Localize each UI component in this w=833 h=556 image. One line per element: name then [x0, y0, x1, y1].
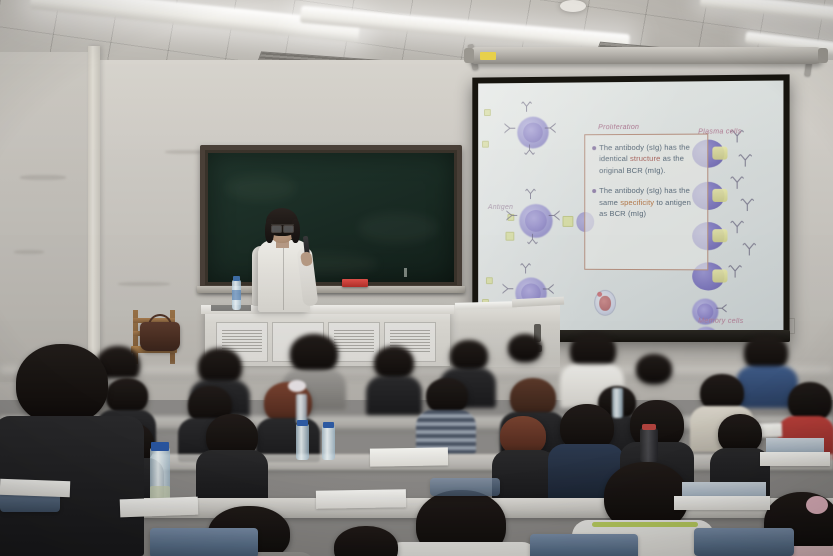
student-head: [106, 378, 148, 414]
bullet-point-icon: [592, 146, 596, 150]
smoke-detector-icon: [560, 0, 586, 12]
bottle-cap: [297, 420, 308, 426]
wall-scuff: [118, 282, 170, 286]
antibody-icon: [743, 242, 756, 255]
hair-accessory: [288, 380, 306, 392]
projected-slide: Proliferation Antigen Plasma cells Memor…: [478, 80, 783, 335]
bcr-receptor-icon: [527, 234, 538, 245]
thermos-cap: [642, 424, 656, 430]
slide-textbox: The antibody (sIg) has the identical str…: [584, 134, 708, 271]
student-head: [426, 378, 468, 414]
chalk-smudge: [358, 213, 438, 243]
b-cell: [519, 204, 552, 238]
student-head: [290, 334, 338, 374]
student-torso: [366, 376, 422, 416]
student-head: [374, 346, 414, 380]
bullet-2-highlight: specificity: [620, 198, 654, 207]
slide-label-memory-cells: Memory cells: [698, 318, 743, 325]
slide-label-antigen: Antigen: [488, 204, 513, 211]
bottle-cap: [151, 442, 169, 451]
antigen-particle: [482, 141, 489, 148]
bcr-receptor-icon: [521, 101, 532, 112]
student-chair-back: [530, 534, 638, 556]
bcr-receptor-icon: [716, 303, 727, 314]
slide-label-proliferation: Proliferation: [598, 124, 639, 131]
bottle-label: [232, 290, 241, 300]
plasma-cell-er: [713, 270, 728, 282]
slide-bullet-2: The antibody (sIg) has the same specific…: [592, 185, 699, 219]
student-torso: [492, 450, 556, 500]
antibody-icon: [739, 153, 752, 166]
antibody-icon: [731, 176, 744, 189]
bcr-receptor-icon: [506, 210, 517, 221]
activated-cell: [594, 290, 616, 316]
student-head-foreground: [334, 526, 398, 556]
antigen-particle-bound: [563, 216, 574, 227]
bottle-cap: [323, 422, 334, 428]
papers[interactable]: [760, 452, 830, 466]
plasma-cell-er: [713, 147, 728, 159]
lecture-hall-photo: Proliferation Antigen Plasma cells Memor…: [0, 0, 833, 556]
activated-cell-nucleus: [600, 296, 611, 311]
slide-bullet-1: The antibody (sIg) has the identical str…: [592, 142, 699, 177]
student-torso-foreground: [386, 542, 538, 556]
bcr-receptor-icon: [503, 283, 514, 294]
bcr-receptor-icon: [505, 123, 516, 134]
bottle-cap: [233, 276, 240, 281]
papers[interactable]: [0, 479, 70, 497]
chalk-smudge: [226, 175, 296, 201]
thermos[interactable]: [640, 428, 658, 462]
papers[interactable]: [674, 496, 770, 510]
screen-roller-endcap: [464, 48, 474, 63]
screen-roller-housing: [468, 47, 824, 64]
chalkboard: [200, 145, 462, 290]
roller-warning-label: [480, 52, 496, 60]
papers[interactable]: [316, 489, 406, 509]
slide-bullet-1-text: The antibody (sIg) has the identical str…: [599, 142, 699, 177]
screen-roller-endcap: [818, 48, 828, 63]
papers[interactable]: [120, 497, 199, 518]
audience-area: [0, 330, 833, 556]
chalkboard-surface: [208, 153, 454, 282]
hair-accessory: [806, 496, 828, 514]
antibody-icon: [741, 198, 754, 211]
antibody-icon: [731, 220, 744, 233]
bcr-receptor-icon: [524, 144, 535, 155]
water-bottle[interactable]: [322, 426, 335, 460]
notebook[interactable]: [370, 447, 448, 466]
student-chair-back: [430, 478, 500, 496]
bcr-receptor-icon: [549, 210, 560, 221]
antigen-particle: [484, 109, 491, 116]
wall-scuff: [165, 150, 205, 154]
wall-scuff: [14, 250, 44, 254]
student-chair-back: [150, 528, 258, 556]
bcr-receptor-icon: [545, 122, 556, 133]
plasma-cell-er: [713, 229, 728, 241]
chalk-box[interactable]: [342, 279, 368, 287]
student-chair-back: [694, 528, 794, 556]
student-head: [636, 354, 672, 384]
student-head-foreground: [16, 344, 108, 424]
shirt-collar: [592, 522, 698, 527]
slide-bullet-2-text: The antibody (sIg) has the same specific…: [599, 185, 699, 219]
antibody-icon: [729, 264, 742, 277]
water-bottle[interactable]: [612, 388, 623, 418]
chalk-piece: [404, 268, 407, 277]
antigen-particle: [486, 277, 493, 284]
wall-scuff: [20, 175, 66, 180]
bcr-receptor-icon: [520, 263, 531, 274]
water-bottle[interactable]: [296, 424, 309, 460]
plasma-cell-er: [713, 189, 728, 201]
bcr-receptor-icon: [525, 188, 536, 199]
podium-inset-panel: [211, 305, 251, 311]
bcr-receptor-icon: [543, 283, 554, 294]
b-cell-nucleus: [525, 210, 546, 232]
eyeglasses-icon: [271, 224, 294, 230]
student-torso: [196, 450, 268, 502]
bullet-point-icon: [592, 189, 596, 193]
student-head: [508, 334, 542, 362]
antigen-particle: [506, 232, 515, 241]
bullet-1-highlight: structure: [630, 154, 660, 163]
